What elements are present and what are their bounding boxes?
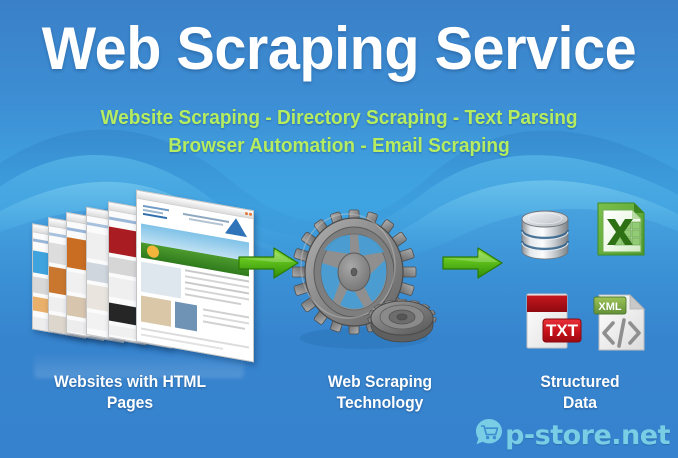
gears-icon — [292, 192, 448, 362]
data-formats-icon: TXT — [508, 196, 658, 360]
caption-structured-data-line-2: Data — [563, 394, 597, 412]
xml-file-label: XML — [598, 301, 622, 313]
caption-structured-data: Structured Data — [495, 372, 666, 414]
caption-technology-line-2: Technology — [337, 394, 424, 412]
shopping-cart-icon — [474, 417, 504, 453]
caption-websites: Websites with HTML Pages — [16, 372, 244, 414]
txt-file-icon: TXT — [518, 288, 584, 359]
caption-technology: Web Scraping Technology — [287, 372, 473, 414]
caption-structured-data-line-1: Structured — [540, 373, 619, 391]
database-cylinder-icon — [516, 206, 574, 269]
arrow-right-icon — [442, 246, 504, 285]
banner-subtitle-line-1: Website Scraping - Directory Scraping - … — [24, 106, 655, 130]
watermark: p-store.net — [474, 418, 670, 452]
watermark-text: p-store.net — [505, 420, 670, 451]
txt-file-label: TXT — [546, 321, 579, 340]
caption-websites-line-2: Pages — [107, 394, 153, 412]
caption-websites-line-1: Websites with HTML — [54, 373, 206, 391]
excel-spreadsheet-icon — [590, 200, 652, 267]
banner-subtitle-line-2: Browser Automation - Email Scraping — [24, 134, 655, 158]
caption-technology-line-1: Web Scraping — [328, 373, 432, 391]
banner-title: Web Scraping Service — [14, 14, 665, 83]
xml-file-icon: XML — [592, 292, 652, 359]
arrow-right-icon — [238, 246, 300, 285]
web-scraping-service-banner: Web Scraping Service Website Scraping - … — [0, 0, 678, 458]
